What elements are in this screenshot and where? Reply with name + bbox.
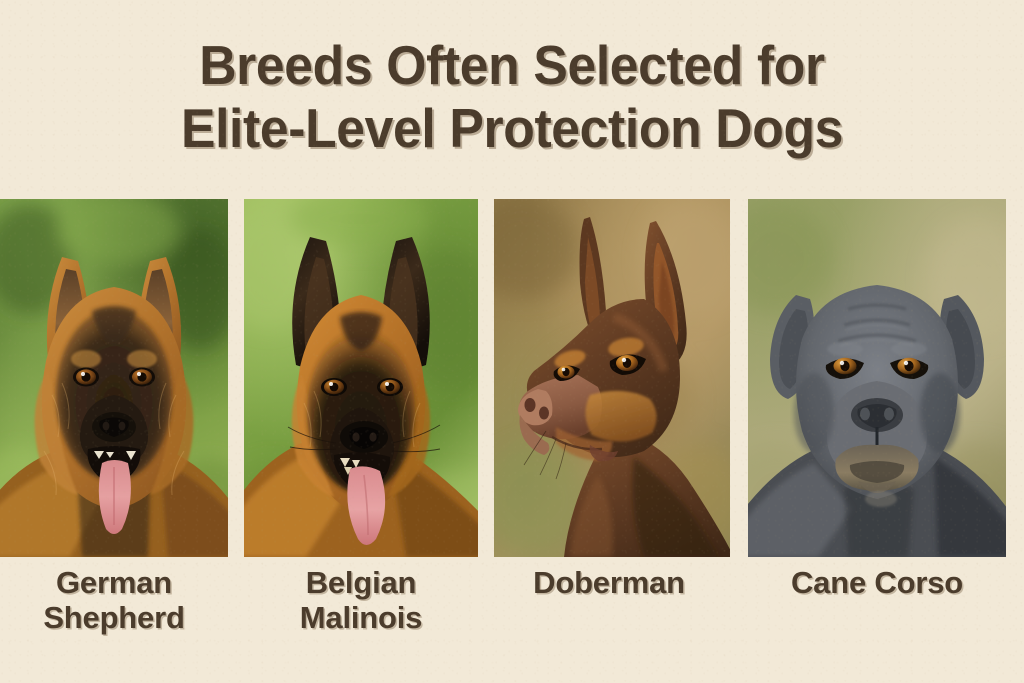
page-title: Breeds Often Selected for Elite-Level Pr… bbox=[0, 34, 1024, 160]
caption-line-1: German bbox=[56, 565, 172, 600]
breed-caption-cane-corso: Cane Corso bbox=[748, 565, 1006, 600]
caption-line-1: Doberman bbox=[533, 565, 685, 600]
breed-photo-belgian-malinois bbox=[244, 199, 478, 557]
title-line-1: Breeds Often Selected for bbox=[31, 34, 994, 97]
belgian-malinois-illustration bbox=[244, 199, 478, 557]
caption-line-2: Malinois bbox=[244, 600, 478, 635]
title-line-2: Elite-Level Protection Dogs bbox=[31, 97, 994, 160]
breed-photo-cane-corso bbox=[748, 199, 1006, 557]
breed-caption-row: German Shepherd Belgian Malinois Doberma… bbox=[0, 565, 1024, 683]
doberman-illustration bbox=[494, 199, 730, 557]
breed-caption-german-shepherd: German Shepherd bbox=[0, 565, 228, 635]
caption-line-1: Belgian bbox=[306, 565, 417, 600]
caption-line-2: Shepherd bbox=[0, 600, 228, 635]
breed-caption-belgian-malinois: Belgian Malinois bbox=[244, 565, 478, 635]
breed-photo-doberman bbox=[494, 199, 730, 557]
infographic-canvas: Breeds Often Selected for Elite-Level Pr… bbox=[0, 0, 1024, 683]
breed-photo-strip bbox=[0, 199, 1024, 557]
caption-line-1: Cane Corso bbox=[791, 565, 963, 600]
breed-caption-doberman: Doberman bbox=[488, 565, 730, 600]
breed-photo-german-shepherd bbox=[0, 199, 228, 557]
german-shepherd-illustration bbox=[0, 199, 228, 557]
cane-corso-illustration bbox=[748, 199, 1006, 557]
